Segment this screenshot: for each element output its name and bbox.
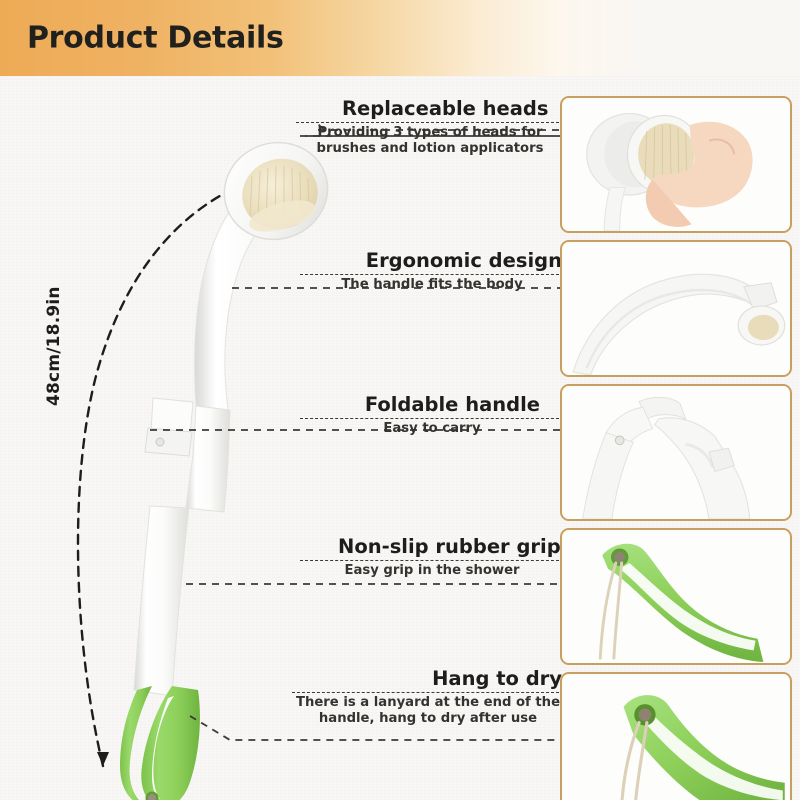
green-grip-icon (562, 530, 790, 663)
thumbnail-curved-handle-side-view[interactable] (560, 240, 792, 377)
feature-title: Foldable handle (300, 394, 564, 416)
feature-block-foldable-handle: Foldable handle Easy to carry (300, 394, 564, 437)
feature-divider (300, 418, 564, 419)
feature-title: Ergonomic design (300, 250, 564, 272)
feature-divider (300, 274, 564, 275)
feature-description: There is a lanyard at the end of the han… (292, 695, 564, 727)
dimension-label: 48cm/18.9in (44, 286, 64, 406)
lanyard-icon (562, 674, 790, 800)
feature-divider (296, 122, 564, 123)
thumbnail-green-rubber-grip[interactable] (560, 528, 792, 665)
feature-title: Hang to dry (292, 668, 564, 690)
feature-description: The handle fits the body (300, 277, 564, 293)
feature-title: Replaceable heads (296, 98, 564, 120)
feature-description: Easy grip in the shower (300, 563, 564, 579)
page-title: Product Details (27, 21, 284, 56)
feature-description: Easy to carry (300, 421, 564, 437)
feature-divider (292, 692, 564, 693)
feature-divider (300, 560, 564, 561)
rubber-grip (120, 686, 200, 800)
thumbnail-folded-hinge-closeup[interactable] (560, 384, 792, 521)
dimension-arc (78, 171, 282, 766)
fold-hinge-icon (562, 386, 790, 519)
feature-block-ergonomic-design: Ergonomic design The handle fits the bod… (300, 250, 564, 293)
feature-block-replaceable-heads: Replaceable heads Providing 3 types of h… (296, 98, 564, 157)
thumbnail-hand-holding-brush-head[interactable] (560, 96, 792, 233)
feature-title: Non-slip rubber grip (300, 536, 564, 558)
curved-handle-icon (562, 242, 790, 375)
fold-hinge (145, 398, 193, 456)
hand-holding-brush-head-icon (562, 98, 790, 231)
infographic-stage: 48cm/18.9in Replaceable heads Providing … (0, 76, 800, 800)
thumbnail-lanyard-hanging-loop[interactable] (560, 672, 792, 800)
feature-description: Providing 3 types of heads for brushes a… (296, 125, 564, 157)
product-details-page: Product Details (0, 0, 800, 800)
feature-block-hang-to-dry: Hang to dry There is a lanyard at the en… (292, 668, 564, 727)
page-header: Product Details (0, 0, 800, 76)
feature-block-non-slip-rubber-grip: Non-slip rubber grip Easy grip in the sh… (300, 536, 564, 579)
